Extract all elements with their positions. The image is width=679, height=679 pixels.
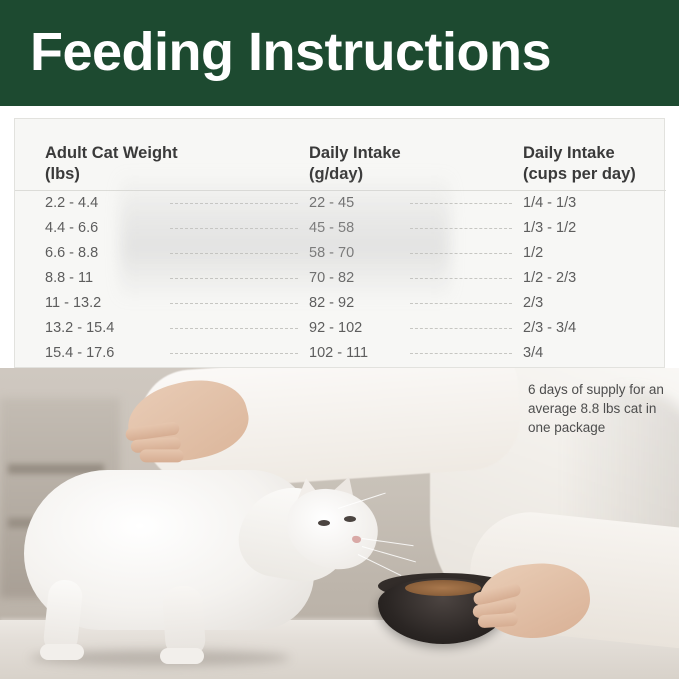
page-title: Feeding Instructions — [30, 16, 670, 88]
dotted-leader — [410, 303, 512, 304]
table-row: 13.2 - 15.4 92 - 102 2/3 - 3/4 — [15, 316, 666, 341]
dotted-leader — [170, 203, 298, 204]
supply-note: 6 days of supply for an average 8.8 lbs … — [528, 380, 678, 437]
table-row: 8.8 - 11 70 - 82 1/2 - 2/3 — [15, 266, 666, 291]
cell-cups: 2/3 - 3/4 — [523, 316, 663, 341]
cat-eye-right — [344, 516, 356, 522]
feeding-table: Adult Cat Weight (lbs) Daily Intake (g/d… — [14, 118, 665, 368]
table-row: 11 - 13.2 82 - 92 2/3 — [15, 291, 666, 316]
cell-cups: 2/3 — [523, 291, 663, 316]
column-header-weight: Adult Cat Weight (lbs) — [45, 143, 295, 185]
cell-weight: 15.4 - 17.6 — [45, 341, 185, 366]
cell-weight: 6.6 - 8.8 — [45, 241, 185, 266]
dotted-leader — [170, 228, 298, 229]
dotted-leader — [410, 203, 512, 204]
dotted-leader — [170, 328, 298, 329]
dotted-leader — [170, 278, 298, 279]
cell-cups: 3/4 — [523, 341, 663, 366]
column-header-weight-line1: Adult Cat Weight — [45, 144, 178, 162]
cell-weight: 2.2 - 4.4 — [45, 191, 185, 216]
cell-weight: 8.8 - 11 — [45, 266, 185, 291]
column-header-weight-line2: (lbs) — [45, 164, 295, 185]
column-header-cups-line2: (cups per day) — [523, 164, 673, 185]
cat-paw — [160, 648, 204, 664]
dotted-leader — [170, 303, 298, 304]
cell-cups: 1/3 - 1/2 — [523, 216, 663, 241]
cell-cups: 1/2 - 2/3 — [523, 266, 663, 291]
feeding-instructions-page: Feeding Instructions Adult Cat Weight (l… — [0, 0, 679, 679]
header-band: Feeding Instructions — [0, 0, 679, 106]
cell-weight: 4.4 - 6.6 — [45, 216, 185, 241]
dotted-leader — [410, 228, 512, 229]
dotted-leader — [170, 253, 298, 254]
column-header-cups: Daily Intake (cups per day) — [523, 143, 673, 185]
cat-eye-left — [318, 520, 330, 526]
cell-weight: 13.2 - 15.4 — [45, 316, 185, 341]
table-row: 15.4 - 17.6 102 - 111 3/4 — [15, 341, 666, 366]
dotted-leader — [410, 278, 512, 279]
dotted-leader — [410, 328, 512, 329]
column-header-grams-line1: Daily Intake — [309, 144, 401, 162]
cell-cups: 1/4 - 1/3 — [523, 191, 663, 216]
cell-cups: 1/2 — [523, 241, 663, 266]
bowl-food — [405, 580, 481, 596]
dotted-leader — [170, 353, 298, 354]
table-row: 4.4 - 6.6 45 - 58 1/3 - 1/2 — [15, 216, 666, 241]
table-row: 6.6 - 8.8 58 - 70 1/2 — [15, 241, 666, 266]
dotted-leader — [410, 353, 512, 354]
table-body: 2.2 - 4.4 22 - 45 1/4 - 1/3 4.4 - 6.6 45… — [15, 191, 666, 366]
column-header-grams: Daily Intake (g/day) — [309, 143, 509, 185]
column-header-cups-line1: Daily Intake — [523, 144, 615, 162]
finger — [140, 449, 184, 462]
finger — [477, 613, 518, 629]
column-header-grams-line2: (g/day) — [309, 164, 509, 185]
cell-weight: 11 - 13.2 — [45, 291, 185, 316]
dotted-leader — [410, 253, 512, 254]
table-row: 2.2 - 4.4 22 - 45 1/4 - 1/3 — [15, 191, 666, 216]
cat-paw — [40, 644, 84, 660]
table-header-row: Adult Cat Weight (lbs) Daily Intake (g/d… — [15, 119, 666, 191]
